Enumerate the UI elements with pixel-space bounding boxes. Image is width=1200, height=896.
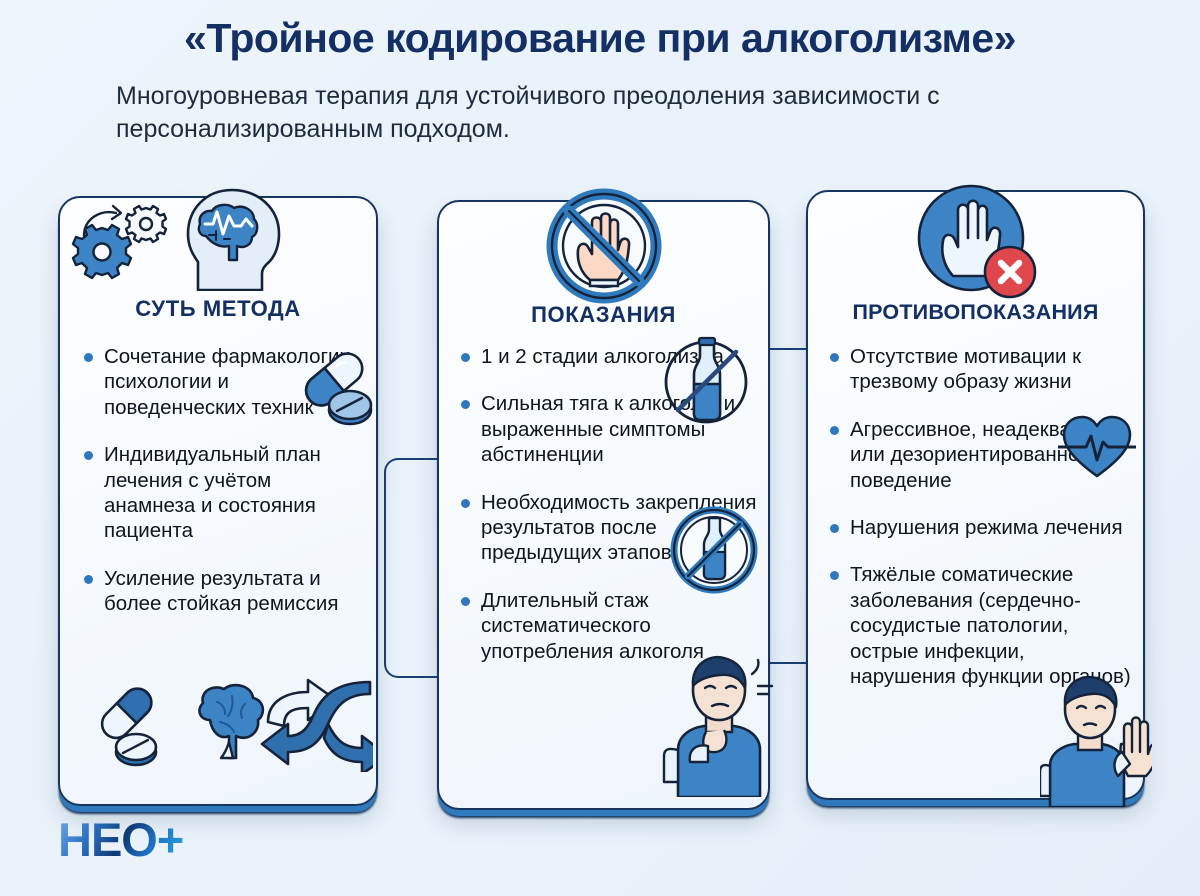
card-method-essence[interactable]: СУТЬ МЕТОДА Сочетание фармакологии, псих… xyxy=(58,196,378,806)
list-item: Индивидуальный план лечения с учётом ана… xyxy=(82,442,364,544)
card-2-bullet-list: 1 и 2 стадии алкоголизма Сильная тяга к … xyxy=(459,344,759,686)
card-3-title: ПРОТИВОПОКАЗАНИЯ xyxy=(808,300,1143,325)
card-3-inner: ПРОТИВОПОКАЗАНИЯ Отсутствие мотивации к … xyxy=(808,192,1143,798)
list-item: Агрессивное, неадекватное или дезориенти… xyxy=(828,417,1136,493)
list-item: Длительный стаж систематического употреб… xyxy=(459,588,759,664)
list-item: Нарушения режима лечения xyxy=(828,515,1136,540)
list-item: 1 и 2 стадии алкоголизма xyxy=(459,344,759,369)
card-contraindications[interactable]: ПРОТИВОПОКАЗАНИЯ Отсутствие мотивации к … xyxy=(806,190,1145,800)
card-2-inner: ПОКАЗАНИЯ 1 и 2 стадии алкоголизма Сильн… xyxy=(439,202,768,808)
infographic-root: «Тройное кодирование при алкоголизме» Мн… xyxy=(0,0,1200,896)
list-item: Усиление результата и более стойкая реми… xyxy=(82,566,364,617)
card-2-title: ПОКАЗАНИЯ xyxy=(439,302,768,328)
card-1-inner: СУТЬ МЕТОДА Сочетание фармакологии, псих… xyxy=(60,198,376,804)
page-title: «Тройное кодирование при алкоголизме» xyxy=(0,16,1200,62)
list-item: Сочетание фармакологии, психологии и пов… xyxy=(82,344,364,420)
list-item: Необходимость закрепления результатов по… xyxy=(459,490,759,566)
card-3-bullet-list: Отсутствие мотивации к трезвому образу ж… xyxy=(828,344,1136,711)
card-1-title: СУТЬ МЕТОДА xyxy=(60,296,376,322)
list-item: Тяжёлые соматические заболевания (сердеч… xyxy=(828,562,1136,689)
list-item: Отсутствие мотивации к трезвому образу ж… xyxy=(828,344,1136,395)
brand-logo-text: НЕО+ xyxy=(58,816,183,863)
card-1-bullet-list: Сочетание фармакологии, психологии и пов… xyxy=(82,344,364,639)
header: «Тройное кодирование при алкоголизме» Мн… xyxy=(0,16,1200,146)
list-item: Сильная тяга к алкоголю и выраженные сим… xyxy=(459,391,759,467)
card-indications[interactable]: ПОКАЗАНИЯ 1 и 2 стадии алкоголизма Сильн… xyxy=(437,200,770,810)
page-subtitle: Многоуровневая терапия для устойчивого п… xyxy=(60,80,1140,146)
brand-logo[interactable]: НЕО+ xyxy=(58,816,183,863)
